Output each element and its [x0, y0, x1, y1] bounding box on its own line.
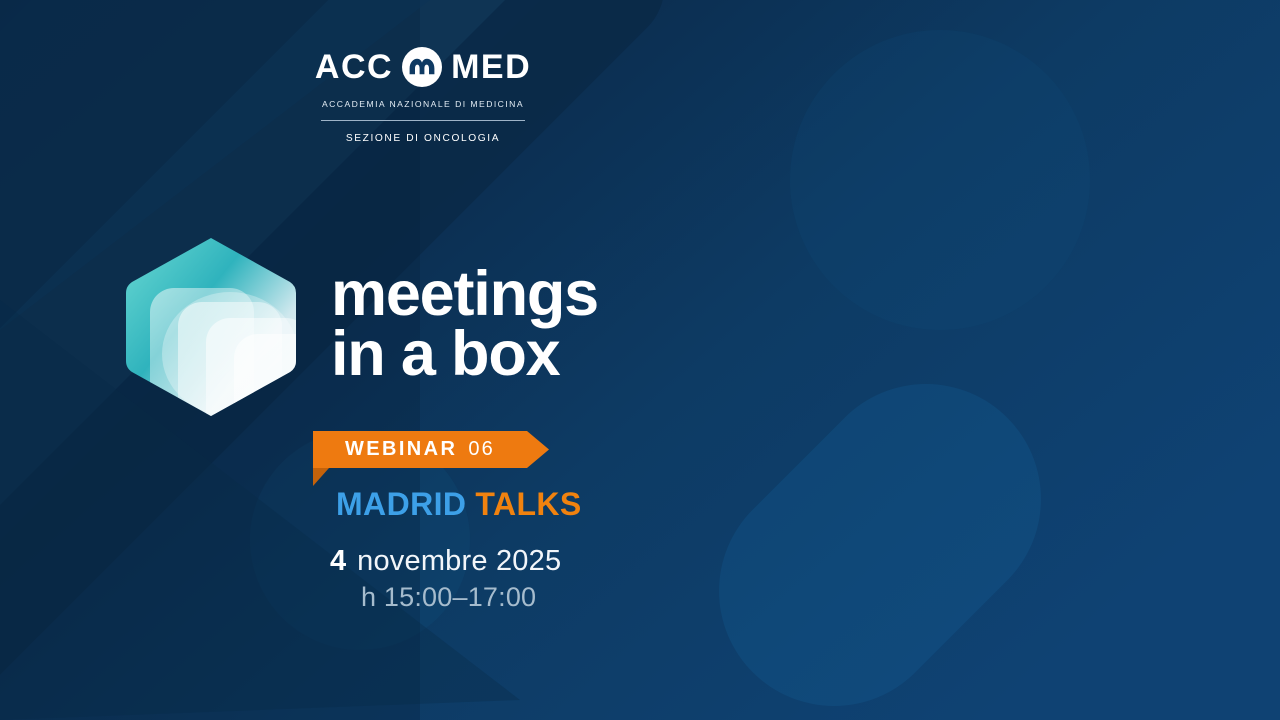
event-series-name: MADRIDTALKS — [336, 486, 582, 523]
accmed-acc-text: ACC — [315, 50, 393, 84]
hexagon-stacked-layers-icon — [122, 236, 300, 418]
event-day: 4 — [330, 545, 346, 578]
accmed-med-text: MED — [451, 50, 531, 84]
accmed-section-label: SEZIONE DI ONCOLOGIA — [318, 133, 528, 144]
page-title-line2: in a box — [331, 324, 598, 384]
page-title: meetings in a box — [331, 264, 598, 385]
accmed-circle-m-icon — [402, 47, 442, 87]
event-series-word: TALKS — [475, 486, 581, 522]
accmed-wordmark: ACC MED — [318, 44, 528, 90]
event-datetime: 4 novembre 2025 h 15:00–17:00 — [330, 545, 561, 613]
poster-canvas: ACC MED ACCADEMIA NAZIONALE DI MEDICINA … — [0, 0, 1280, 720]
webinar-number: 06 — [468, 438, 495, 461]
accmed-subtitle: ACCADEMIA NAZIONALE DI MEDICINA — [318, 99, 528, 109]
accmed-divider — [321, 120, 525, 121]
event-time: h 15:00–17:00 — [361, 582, 561, 613]
event-month-year: novembre 2025 — [357, 545, 561, 578]
webinar-ribbon: WEBINAR 06 — [313, 431, 553, 468]
webinar-label: WEBINAR — [345, 438, 457, 461]
accmed-logo: ACC MED ACCADEMIA NAZIONALE DI MEDICINA … — [318, 44, 528, 144]
ribbon-fold — [313, 468, 329, 486]
event-city: MADRID — [336, 486, 466, 522]
event-date: 4 novembre 2025 — [330, 545, 561, 578]
page-title-line1: meetings — [331, 264, 598, 324]
